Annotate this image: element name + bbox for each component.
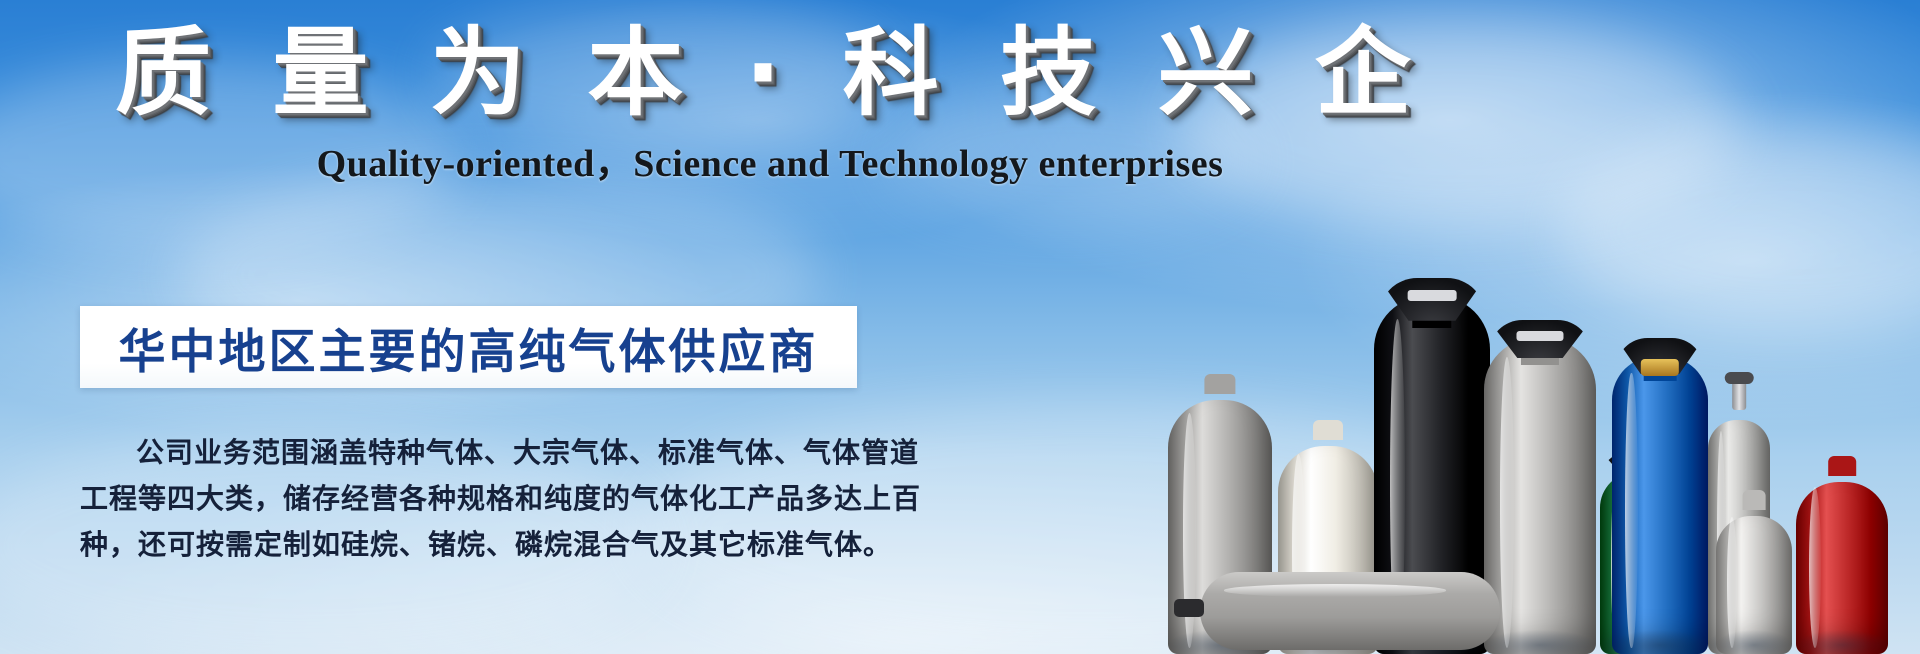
cylinder-shoulder [1313,420,1343,440]
description-paragraph: 公司业务范围涵盖特种气体、大宗气体、标准气体、气体管道 工程等四大类，储存经营各… [80,430,880,568]
cylinder-knob-icon [1725,372,1754,384]
gas-cylinder-group-image [1160,154,1920,654]
slogan-plate: 华中地区主要的高纯气体供应商 [80,306,857,388]
cylinder-shoulder [1743,490,1766,510]
paragraph-line: 公司业务范围涵盖特种气体、大宗气体、标准气体、气体管道 [80,430,880,476]
banner-headline: 质 量 为 本 · 科 技 兴 企 [0,22,1540,126]
cylinder-blue-tall [1612,342,1708,654]
cylinder-aluminium-short [1716,502,1792,654]
cylinder-shoulder [1204,374,1235,394]
paragraph-line: 工程等四大类，储存经营各种规格和纯度的气体化工产品多达上百 [80,476,880,522]
slogan-text: 华中地区主要的高纯气体供应商 [119,313,819,382]
cylinder-lying-horizontal [1200,572,1500,650]
cylinder-grey-tall-second [1484,324,1596,654]
cylinder-dark-red-right [1796,468,1888,654]
paragraph-line: 种，还可按需定制如硅烷、锗烷、磷烷混合气及其它标准气体。 [80,522,880,568]
cylinder-valve-icon [1174,599,1204,617]
brass-valve-icon [1641,359,1679,376]
cylinder-shoulder [1828,456,1856,476]
cylinder-valve-icon [1732,380,1746,410]
promotional-banner: 质 量 为 本 · 科 技 兴 企 Quality-oriented，Scien… [0,0,1920,654]
